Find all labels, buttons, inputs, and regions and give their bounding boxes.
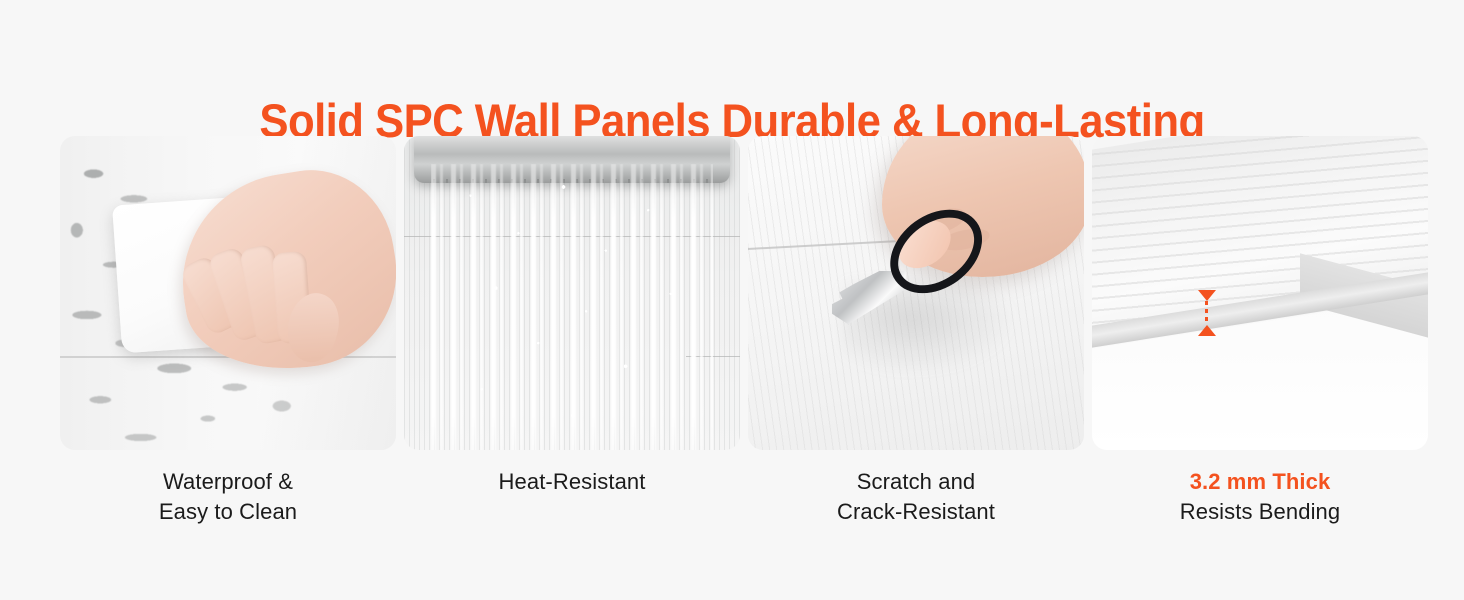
caption-line-2: Easy to Clean [159, 497, 297, 527]
scratch-resistant-photo [748, 136, 1084, 450]
feature-caption-heat-resistant: Heat-Resistant [499, 467, 646, 497]
feature-caption-scratch-resistant: Scratch and Crack-Resistant [837, 467, 995, 527]
feature-caption-waterproof: Waterproof & Easy to Clean [159, 467, 297, 527]
heat-resistant-photo [404, 136, 740, 450]
caption-line-2: Crack-Resistant [837, 497, 995, 527]
thickness-photo [1092, 136, 1428, 450]
feature-card-thickness: 3.2 mm Thick Resists Bending [1092, 136, 1428, 527]
waterproof-photo [60, 136, 396, 450]
arrow-down-icon [1198, 290, 1216, 301]
feature-card-waterproof: Waterproof & Easy to Clean [60, 136, 396, 527]
measure-dashed-line [1205, 301, 1208, 325]
feature-card-scratch-resistant: Scratch and Crack-Resistant [748, 136, 1084, 527]
caption-line-2: Resists Bending [1180, 497, 1340, 527]
water-droplets-texture [431, 161, 713, 450]
feature-list: Waterproof & Easy to Clean Heat-Resistan… [60, 136, 1398, 527]
caption-line-1: Heat-Resistant [499, 467, 646, 497]
arrow-up-icon [1198, 325, 1216, 336]
feature-caption-thickness: 3.2 mm Thick Resists Bending [1180, 467, 1340, 527]
caption-line-1: Scratch and [837, 467, 995, 497]
feature-card-heat-resistant: Heat-Resistant [404, 136, 740, 527]
spc-wall-panel-infographic: Solid SPC Wall Panels Durable & Long-Las… [0, 0, 1464, 600]
caption-line-1: Waterproof & [159, 467, 297, 497]
caption-line-1: 3.2 mm Thick [1180, 467, 1340, 497]
thickness-arrows-icon [1198, 290, 1216, 336]
